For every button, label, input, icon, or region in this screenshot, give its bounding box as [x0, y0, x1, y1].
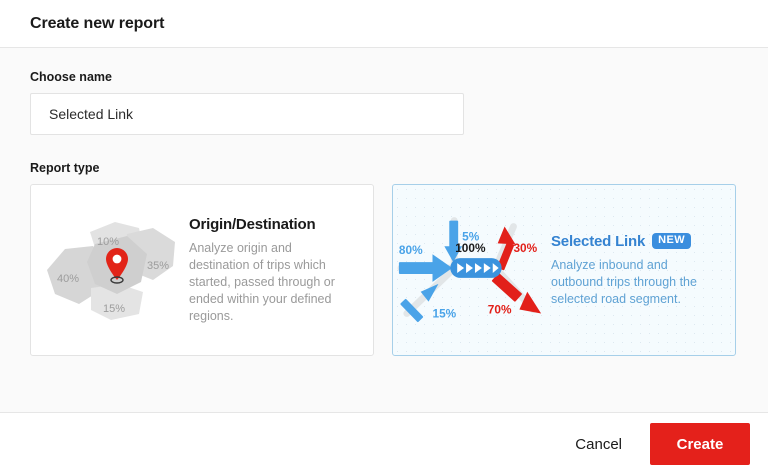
report-type-options: 10% 40% 35% 15% Origin/Destination [30, 184, 738, 356]
outbound-label-30: 30% [513, 241, 537, 255]
map-label-40: 40% [57, 273, 79, 285]
new-badge: NEW [652, 233, 691, 249]
report-name-input[interactable] [30, 93, 464, 135]
segment-label-100: 100% [455, 241, 486, 255]
card-title-selected-link: Selected Link NEW [551, 233, 721, 250]
outbound-label-70: 70% [488, 302, 512, 316]
dialog-body: Choose name Report type [0, 48, 768, 412]
region-map-illustration: 10% 40% 35% 15% [31, 214, 189, 326]
card-text-selected-link: Selected Link NEW Analyze inbound and ou… [551, 233, 735, 308]
card-title-origin-destination: Origin/Destination [189, 216, 359, 233]
map-label-10: 10% [97, 236, 119, 248]
page-title: Create new report [30, 15, 164, 33]
map-label-35: 35% [147, 260, 169, 272]
create-report-dialog: Create new report Choose name Report typ… [0, 0, 768, 475]
dialog-header: Create new report [0, 0, 768, 48]
dialog-footer: Cancel Create [0, 412, 768, 475]
report-type-card-selected-link[interactable]: 80% 5% 15% 30% 70% 100% Selected Link NE… [392, 184, 736, 356]
selected-link-illustration: 80% 5% 15% 30% 70% 100% [393, 210, 551, 330]
card-description-origin-destination: Analyze origin and destination of trips … [189, 240, 349, 325]
choose-name-label: Choose name [30, 70, 738, 84]
cancel-button[interactable]: Cancel [553, 426, 644, 463]
report-type-card-origin-destination[interactable]: 10% 40% 35% 15% Origin/Destination [30, 184, 374, 356]
report-type-label: Report type [30, 161, 738, 175]
create-button[interactable]: Create [650, 423, 750, 465]
map-label-15: 15% [103, 303, 125, 315]
card-description-selected-link: Analyze inbound and outbound trips throu… [551, 257, 711, 308]
inbound-label-15: 15% [433, 306, 457, 320]
card-title-selected-link-text: Selected Link [551, 233, 645, 250]
card-text-origin-destination: Origin/Destination Analyze origin and de… [189, 216, 373, 325]
inbound-label-80: 80% [399, 243, 423, 257]
selected-segment-pill [450, 258, 501, 278]
